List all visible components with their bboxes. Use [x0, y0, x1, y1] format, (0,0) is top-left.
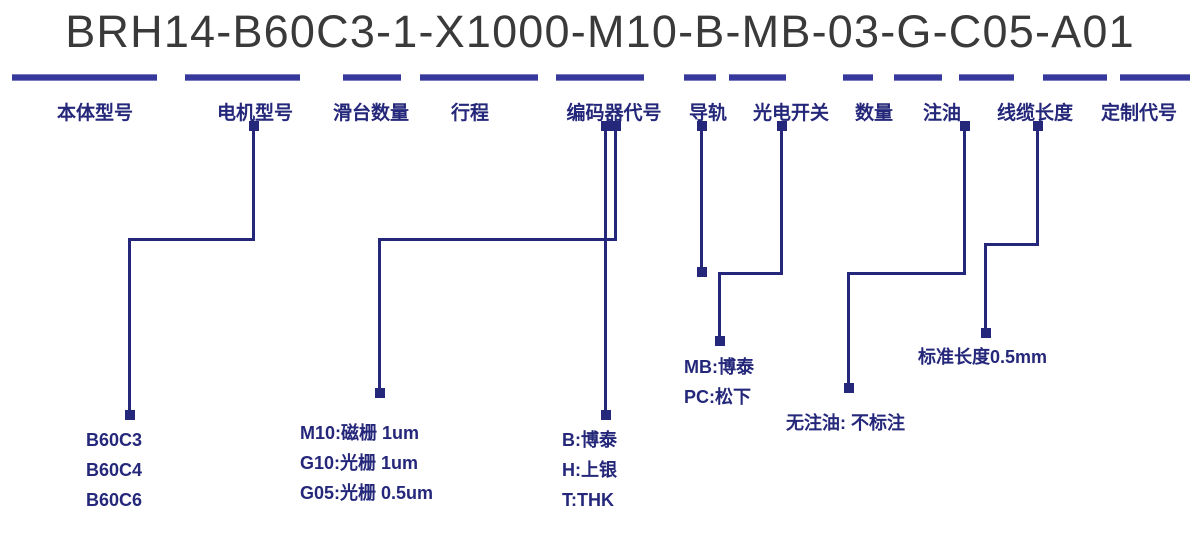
underline-segment-trailing: [1120, 74, 1190, 81]
connector-node-bottom-oiling: [844, 383, 854, 393]
connector-vline-upper-photo_switch: [780, 126, 783, 272]
option-line: H:上银: [562, 455, 617, 485]
connector-vline-encoder_code: [604, 126, 607, 415]
underline-segment-photo_switch: [729, 74, 786, 81]
option-line: PC:松下: [684, 382, 754, 412]
underline-segment-custom_code: [1043, 74, 1107, 81]
field-label-slide_count: 滑台数量: [324, 98, 418, 125]
underline-segment-slide_count: [343, 74, 401, 81]
connector-vline-lower-motor_model: [378, 238, 381, 393]
connector-node-bottom-motor_model: [375, 388, 385, 398]
connector-vline-upper-oiling: [963, 126, 966, 272]
option-block-encoder_options: B:博泰H:上银T:THK: [562, 425, 617, 515]
connector-vline-lower-photo_switch: [718, 272, 721, 341]
field-label-stroke: 行程: [444, 98, 496, 125]
underline-segment-stroke: [420, 74, 538, 81]
connector-vline-lower-oiling: [847, 272, 850, 388]
connector-vline-upper-body_model: [252, 126, 255, 238]
option-line: T:THK: [562, 485, 617, 515]
underline-segment-encoder_code: [556, 74, 644, 81]
option-line: MB:博泰: [684, 352, 754, 382]
connector-vline-upper-motor_model: [614, 126, 617, 238]
underline-segment-oiling: [894, 74, 942, 81]
connector-hline-oiling: [847, 272, 966, 275]
option-line: 标准长度0.5mm: [918, 342, 1047, 372]
connector-node-bottom-encoder_code: [601, 410, 611, 420]
part-number-title: BRH14-B60C3-1-X1000-M10-B-MB-03-G-C05-A0…: [0, 6, 1200, 58]
option-line: G05:光栅 0.5um: [300, 478, 433, 508]
connector-hline-motor_model: [378, 238, 617, 241]
option-block-oiling_options: 无注油: 不标注: [786, 408, 905, 438]
option-block-photo_switch_options: MB:博泰PC:松下: [684, 352, 754, 412]
option-block-motor_model_options: M10:磁栅 1umG10:光栅 1umG05:光栅 0.5um: [300, 418, 433, 508]
connector-vline-upper-cable_length: [1036, 126, 1039, 243]
field-label-quantity: 数量: [848, 98, 900, 125]
underline-segment-body_model: [12, 74, 157, 81]
connector-vline-guide_rail: [700, 126, 703, 272]
option-line: G10:光栅 1um: [300, 448, 433, 478]
field-label-body_model: 本体型号: [30, 98, 160, 125]
underline-segment-quantity: [843, 74, 873, 81]
part-number-breakdown-diagram: BRH14-B60C3-1-X1000-M10-B-MB-03-G-C05-A0…: [0, 0, 1200, 550]
option-line: B60C3: [86, 425, 142, 455]
option-block-cable_length_options: 标准长度0.5mm: [918, 342, 1047, 372]
connector-hline-photo_switch: [718, 272, 783, 275]
underline-segment-cable_length: [959, 74, 1014, 81]
connector-node-bottom-body_model: [125, 410, 135, 420]
option-line: B:博泰: [562, 425, 617, 455]
field-label-photo_switch: 光电开关: [744, 98, 838, 125]
field-label-guide_rail: 导轨: [682, 98, 734, 125]
connector-node-bottom-photo_switch: [715, 336, 725, 346]
connector-node-bottom-guide_rail: [697, 267, 707, 277]
connector-hline-cable_length: [984, 243, 1039, 246]
option-line: B60C4: [86, 455, 142, 485]
option-line: M10:磁栅 1um: [300, 418, 433, 448]
connector-vline-lower-cable_length: [984, 243, 987, 333]
underline-segment-guide_rail: [684, 74, 716, 81]
field-label-custom_code: 定制代号: [1092, 98, 1186, 125]
option-line: B60C6: [86, 485, 142, 515]
connector-vline-lower-body_model: [128, 238, 131, 415]
option-line: 无注油: 不标注: [786, 408, 905, 438]
connector-node-bottom-cable_length: [981, 328, 991, 338]
option-block-body_model_options: B60C3B60C4B60C6: [86, 425, 142, 515]
underline-segment-motor_model: [185, 74, 300, 81]
connector-hline-body_model: [128, 238, 255, 241]
